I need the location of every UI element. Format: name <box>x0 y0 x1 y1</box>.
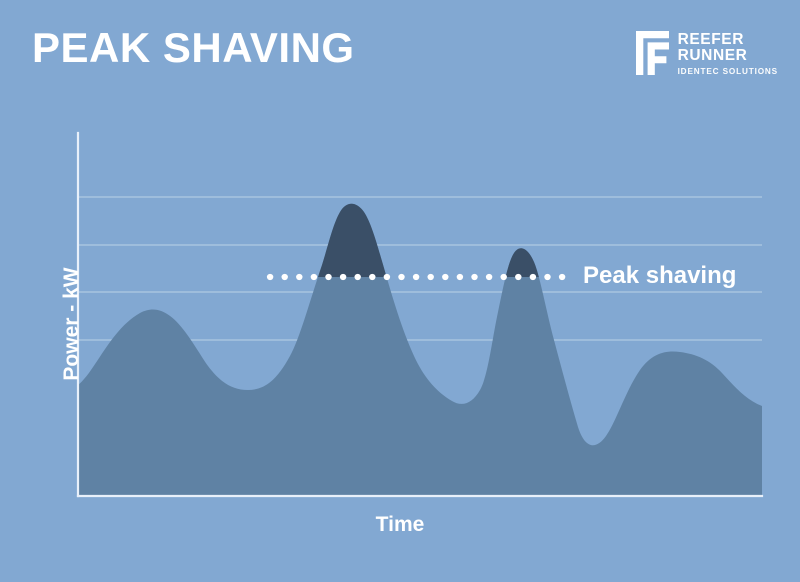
peak-shaving-annotation-label: Peak shaving <box>583 262 736 290</box>
y-axis-label: Power - kW <box>60 244 84 404</box>
peak-shaving-infographic: PEAK SHAVING REEFER RUNNER IDENTEC SOLUT… <box>0 0 800 582</box>
power-demand-area-chart <box>0 0 800 582</box>
area-fill-base <box>78 204 762 496</box>
chart-area-series <box>78 204 762 496</box>
x-axis-label: Time <box>0 513 800 537</box>
